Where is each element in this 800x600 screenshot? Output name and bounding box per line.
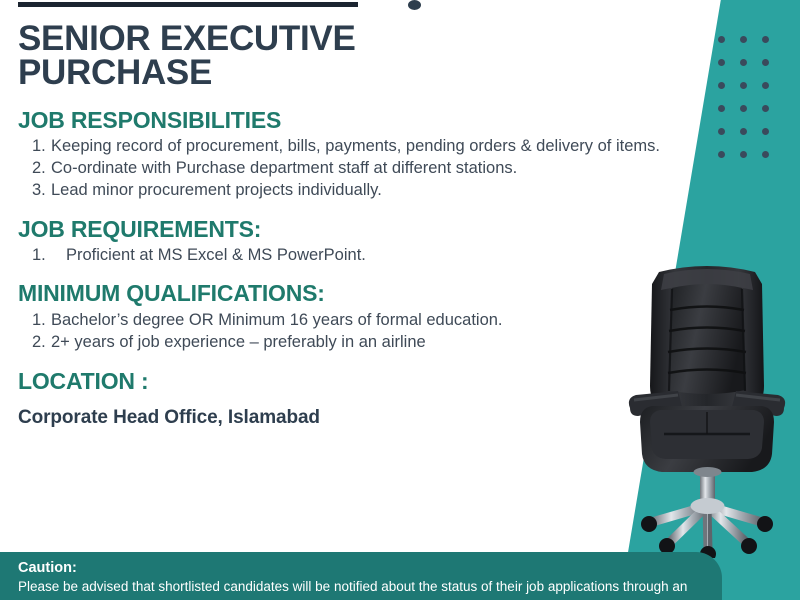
list-item-text: Keeping record of procurement, bills, pa… (51, 136, 730, 158)
caution-body: Please be advised that shortlisted candi… (18, 578, 718, 596)
requirements-list: 1. Proficient at MS Excel & MS PowerPoin… (18, 245, 730, 267)
section-heading-qualifications: MINIMUM QUALIFICATIONS: (18, 280, 730, 306)
section-requirements: JOB REQUIREMENTS: 1. Proficient at MS Ex… (0, 216, 730, 267)
poster-content: SENIOR EXECUTIVE PURCHASE JOB RESPONSIBI… (0, 0, 730, 429)
grid-dot-icon (762, 82, 769, 89)
caution-footer: Caution: Please be advised that shortlis… (0, 552, 722, 600)
grid-dot-icon (762, 151, 769, 158)
list-item: 1. Proficient at MS Excel & MS PowerPoin… (18, 245, 730, 267)
grid-dot-icon (762, 59, 769, 66)
grid-dot-icon (740, 151, 747, 158)
section-heading-location: LOCATION : (18, 368, 730, 394)
section-location: LOCATION : (0, 368, 730, 394)
qualifications-list: 1. Bachelor’s degree OR Minimum 16 years… (18, 310, 618, 354)
list-item: 3. Lead minor procurement projects indiv… (18, 180, 730, 202)
grid-dot-icon (740, 128, 747, 135)
section-heading-requirements: JOB REQUIREMENTS: (18, 216, 730, 242)
list-item: 2. 2+ years of job experience – preferab… (18, 332, 618, 354)
grid-dot-icon (740, 36, 747, 43)
list-item-text: Co-ordinate with Purchase department sta… (51, 158, 730, 180)
grid-dot-icon (762, 36, 769, 43)
top-accent-dot-icon (408, 0, 421, 10)
list-item-number: 2. (32, 332, 51, 354)
page-title: SENIOR EXECUTIVE PURCHASE (0, 0, 730, 91)
grid-dot-icon (740, 105, 747, 112)
list-item-number: 1. (32, 136, 51, 158)
list-item-number: 2. (32, 158, 51, 180)
top-divider-rule (18, 2, 358, 7)
list-item-text: Bachelor’s degree OR Minimum 16 years of… (51, 310, 618, 332)
list-item-number: 3. (32, 180, 51, 202)
grid-dot-icon (762, 105, 769, 112)
job-advert-poster: SENIOR EXECUTIVE PURCHASE JOB RESPONSIBI… (0, 0, 800, 600)
location-value: Corporate Head Office, Islamabad (0, 407, 730, 429)
grid-dot-icon (740, 59, 747, 66)
section-qualifications: MINIMUM QUALIFICATIONS: 1. Bachelor’s de… (0, 280, 730, 353)
section-heading-responsibilities: JOB RESPONSIBILITIES (18, 107, 730, 133)
responsibilities-list: 1. Keeping record of procurement, bills,… (18, 136, 730, 202)
grid-dot-icon (740, 82, 747, 89)
list-item-text: 2+ years of job experience – preferably … (51, 332, 618, 354)
list-item: 2. Co-ordinate with Purchase department … (18, 158, 730, 180)
list-item-number: 1. (32, 310, 51, 332)
list-item: 1. Keeping record of procurement, bills,… (18, 136, 730, 158)
section-responsibilities: JOB RESPONSIBILITIES 1. Keeping record o… (0, 107, 730, 202)
list-item-number: 1. (32, 245, 66, 267)
list-item-text: Lead minor procurement projects individu… (51, 180, 730, 202)
grid-dot-icon (762, 128, 769, 135)
list-item: 1. Bachelor’s degree OR Minimum 16 years… (18, 310, 618, 332)
list-item-text: Proficient at MS Excel & MS PowerPoint. (66, 245, 730, 267)
caution-title: Caution: (18, 559, 722, 577)
